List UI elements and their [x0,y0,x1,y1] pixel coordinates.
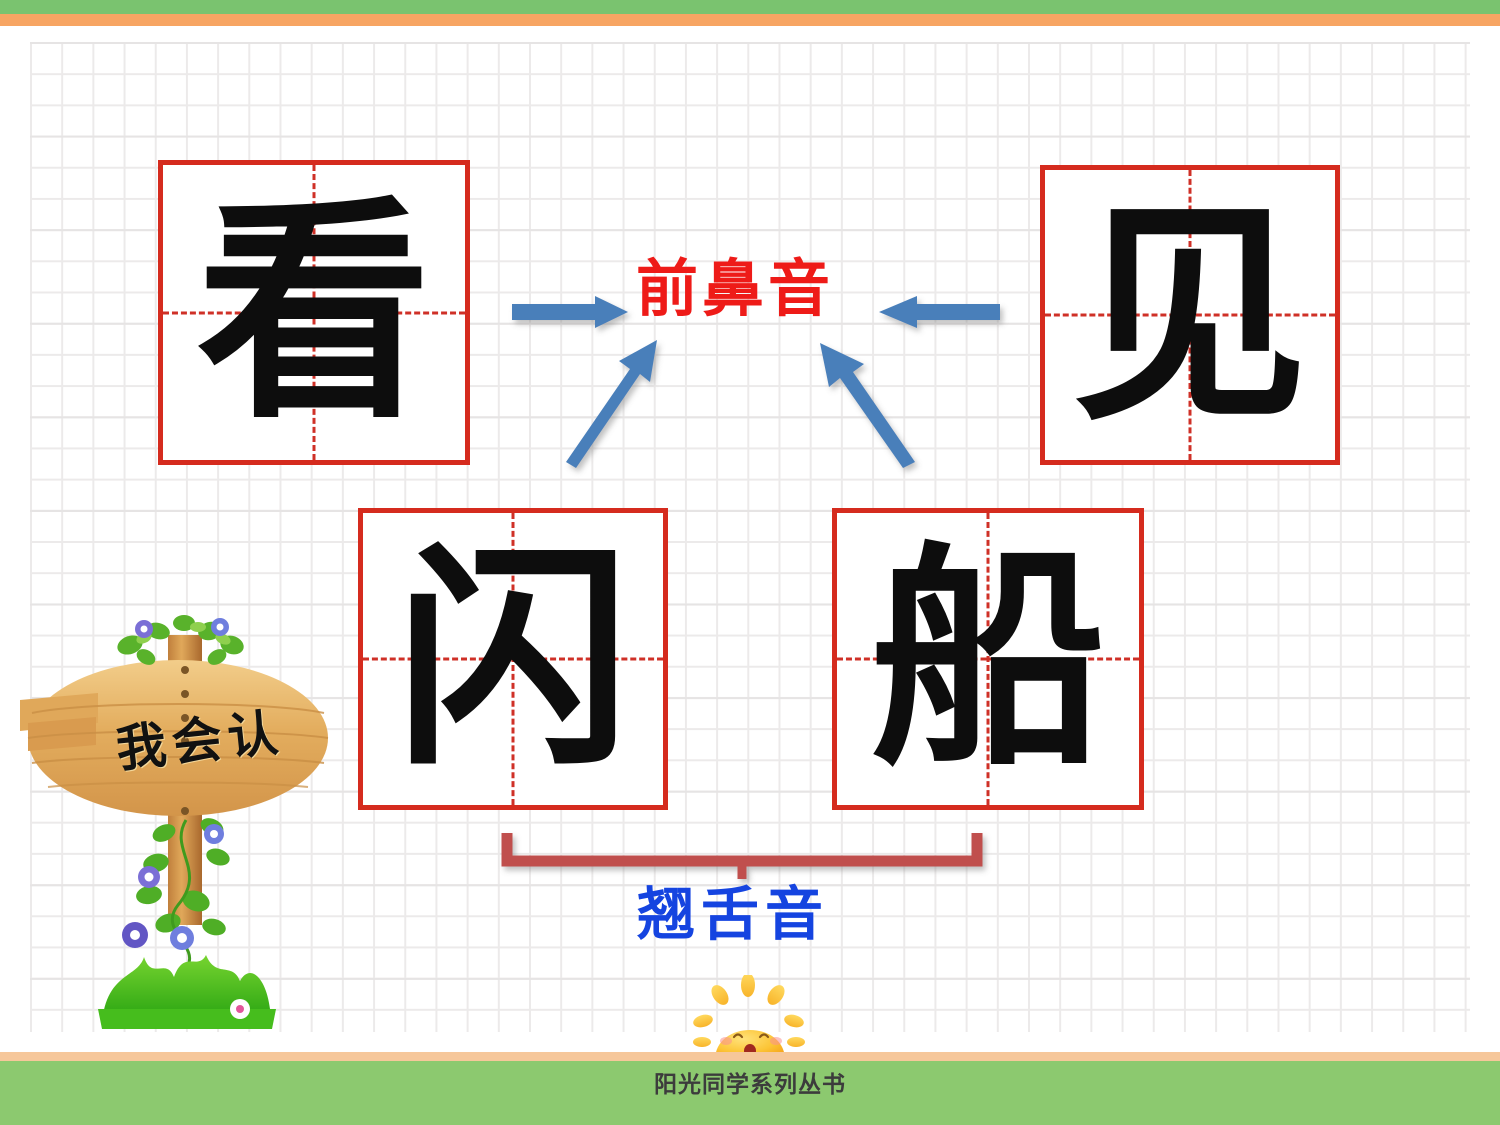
character-box-chuan: 船 [832,508,1144,810]
flower [230,999,250,1019]
flower [122,922,148,948]
top-orange-bar [0,14,1500,26]
flower [138,866,160,888]
flower [204,824,224,844]
character-glyph-jian: 见 [1045,170,1335,460]
slide-canvas: 看 见 闪 船 [0,0,1500,1125]
sign-grass-base [98,955,276,1029]
character-box-jian: 见 [1040,165,1340,465]
character-glyph-kan: 看 [163,165,465,460]
wooden-sign [18,605,348,1035]
character-glyph-chuan: 船 [837,513,1139,805]
character-box-shan: 闪 [358,508,668,810]
flower [170,926,194,950]
character-glyph-shan: 闪 [363,513,663,805]
bottom-orange-bar [0,1052,1500,1061]
top-green-bar [0,0,1500,14]
flower [135,620,153,638]
label-front-nasal: 前鼻音 [636,258,834,320]
flower [211,618,229,636]
character-box-kan: 看 [158,160,470,465]
label-retroflex: 翘舌音 [637,885,829,943]
footer-series-title: 阳光同学系列丛书 [0,1065,1500,1103]
sun-mascot [690,975,810,1060]
